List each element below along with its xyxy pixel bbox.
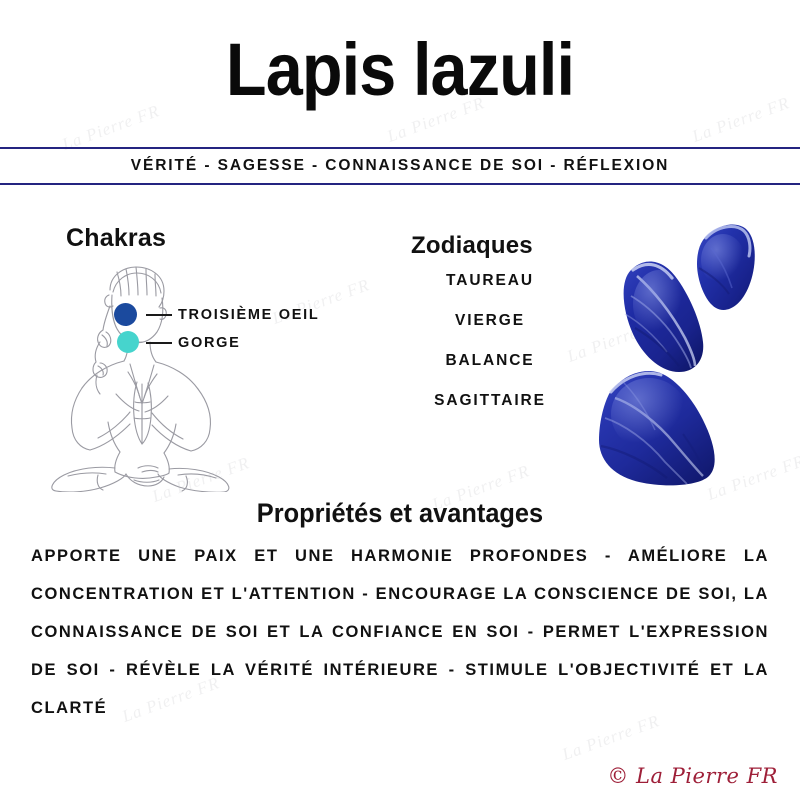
meditating-figure-illustration [38,262,248,492]
zodiac-item: VIERGE [395,312,585,330]
chakra-dot-third-eye [114,303,137,326]
leader-line-third-eye [146,314,172,316]
zodiac-item: BALANCE [395,352,585,370]
footer-credit: © La Pierre FR [607,764,778,788]
stone-large-bottom [599,371,715,485]
chakra-label-third-eye: TROISIÈME OEIL [178,307,319,323]
zodiac-item: SAGITTAIRE [395,392,585,410]
properties-heading: Propriétés et avantages [24,498,776,529]
zodiac-list: TAUREAU VIERGE BALANCE SAGITTAIRE [395,272,585,432]
chakras-heading: Chakras [66,224,166,253]
properties-body-text: APPORTE UNE PAIX ET UNE HARMONIE PROFOND… [31,537,769,727]
chakra-dot-throat [117,331,139,353]
keyword-banner-text: VÉRITÉ - SAGESSE - CONNAISSANCE DE SOI -… [131,157,670,175]
zodiac-item: TAUREAU [395,272,585,290]
zodiaques-heading: Zodiaques [411,232,533,260]
keyword-banner: VÉRITÉ - SAGESSE - CONNAISSANCE DE SOI -… [0,147,800,185]
leader-line-throat [146,342,172,344]
stone-medium-middle [624,261,704,372]
page-title: Lapis lazuli [40,28,760,112]
stone-small-top [697,225,755,310]
lapis-lazuli-stones-image [575,218,800,493]
chakra-label-throat: GORGE [178,335,240,351]
